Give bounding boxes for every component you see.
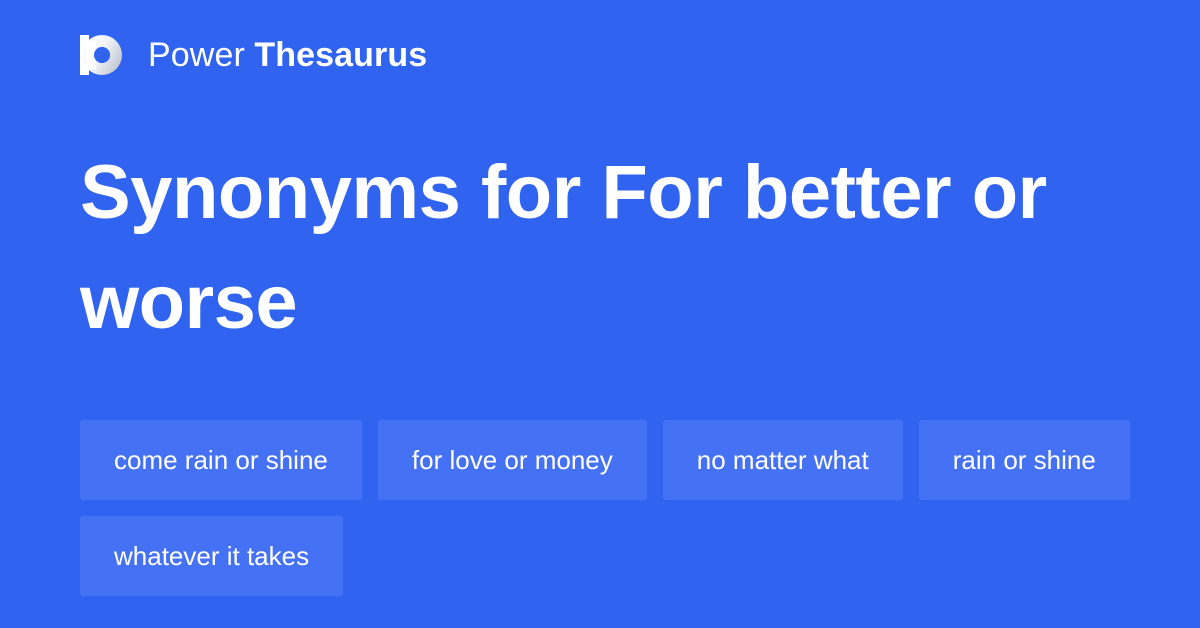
brand-wordmark: Power Thesaurus <box>148 38 427 72</box>
brand-header[interactable]: Power Thesaurus <box>80 30 427 80</box>
share-card: Power Thesaurus Synonyms for For better … <box>0 0 1200 628</box>
power-thesaurus-b-logo-icon <box>80 31 126 79</box>
synonym-chip[interactable]: rain or shine <box>919 420 1130 500</box>
synonym-chip[interactable]: come rain or shine <box>80 420 362 500</box>
synonym-chip-list: come rain or shine for love or money no … <box>80 420 1140 596</box>
brand-word-thesaurus: Thesaurus <box>254 36 427 74</box>
synonym-chip[interactable]: no matter what <box>663 420 903 500</box>
brand-word-power: Power <box>148 36 245 74</box>
synonym-chip[interactable]: whatever it takes <box>80 516 343 596</box>
page-title: Synonyms for For better or worse <box>80 138 1080 358</box>
synonym-chip[interactable]: for love or money <box>378 420 647 500</box>
